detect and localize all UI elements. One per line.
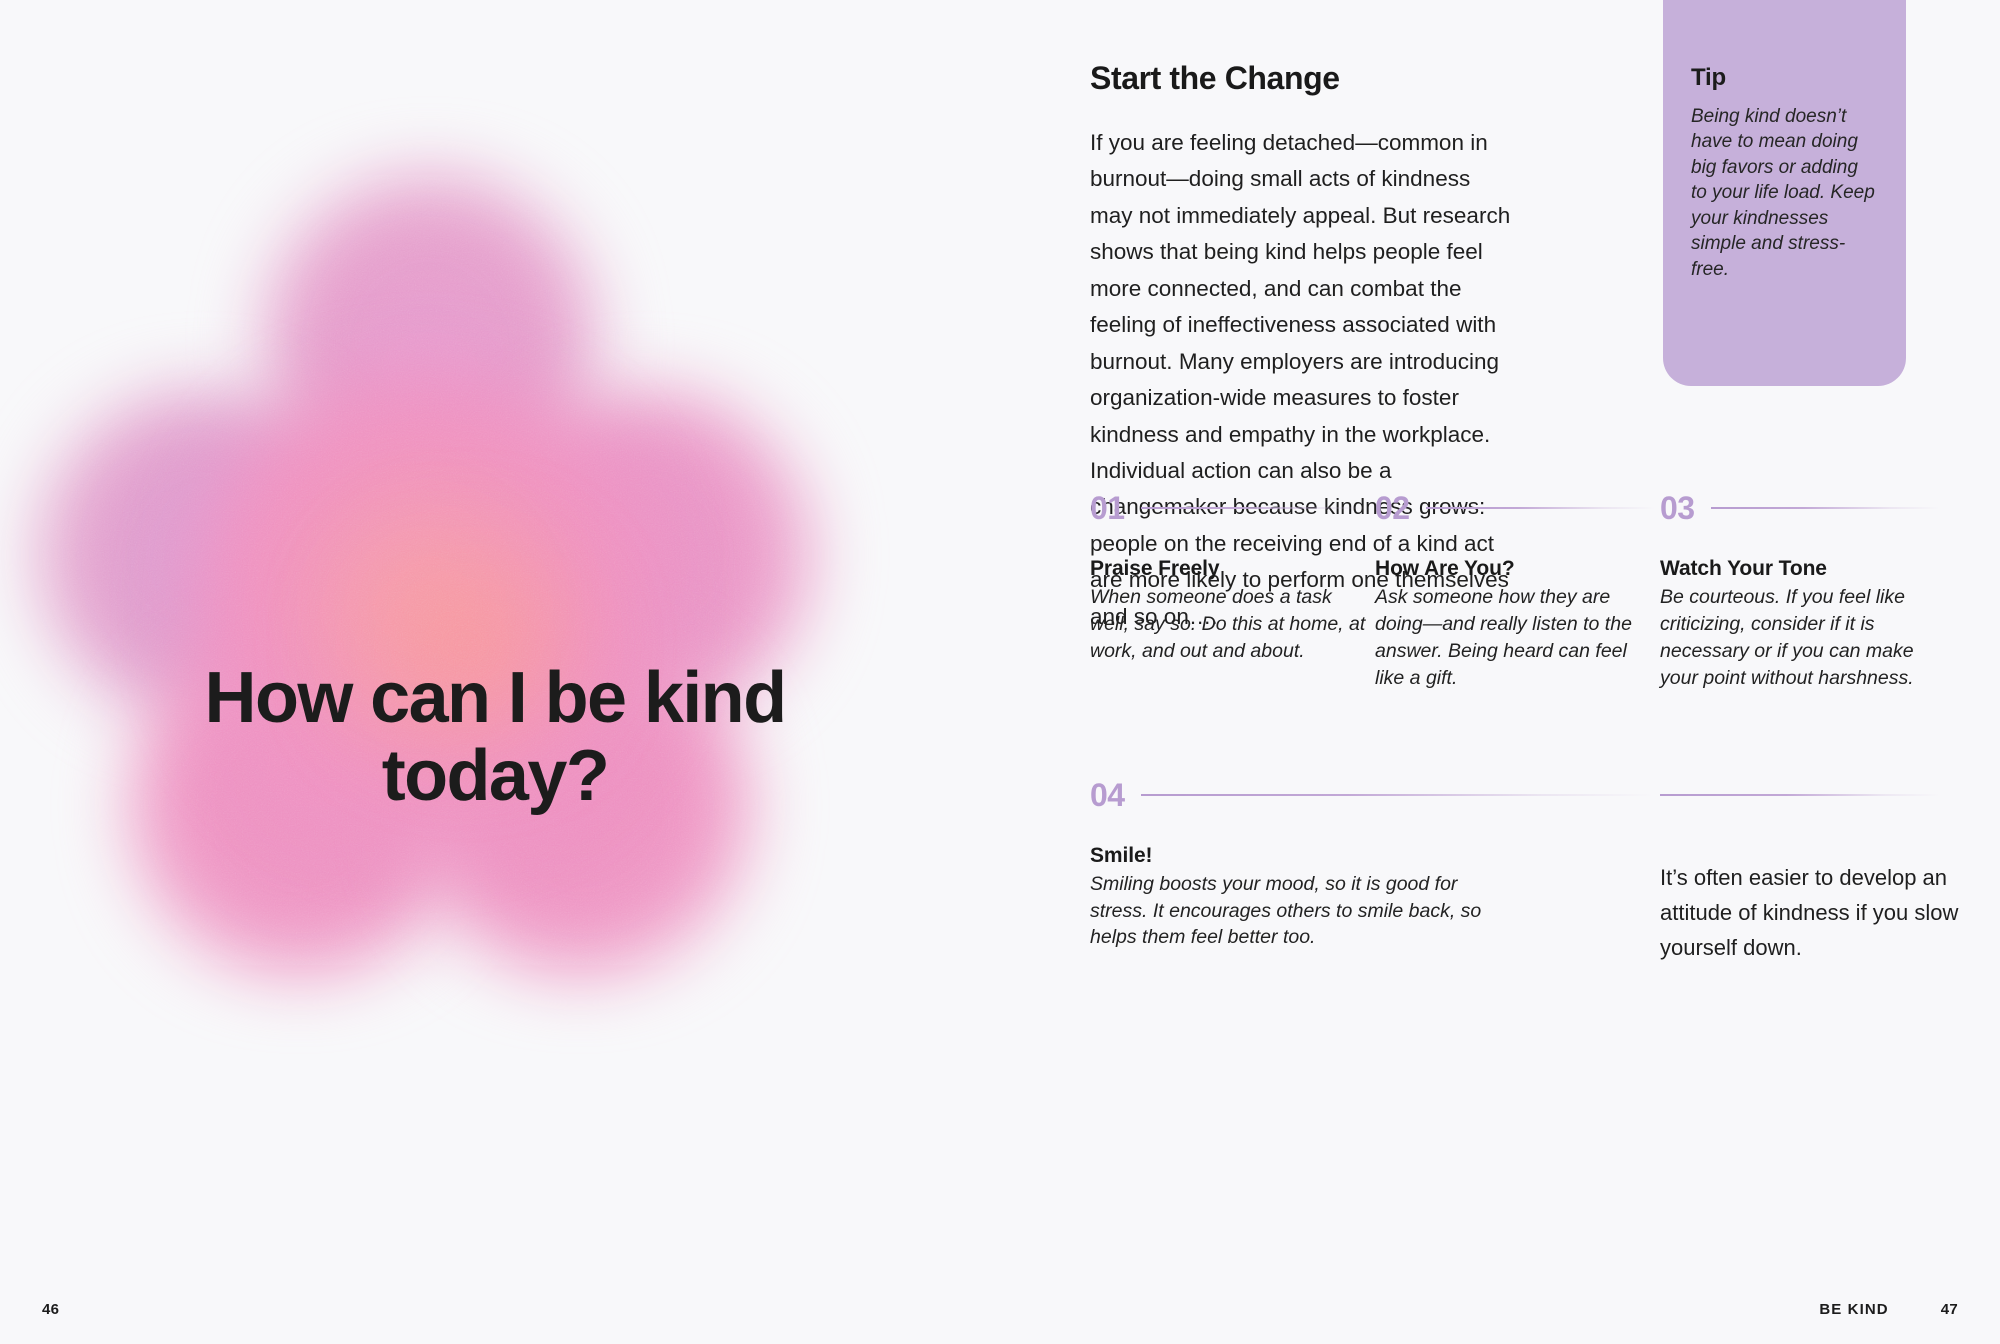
tip-number-header: 04 <box>1090 772 1655 818</box>
tip-rule <box>1711 507 1940 509</box>
folio-right: BE KIND 47 <box>1819 1301 1958 1318</box>
tip-number: 03 <box>1660 492 1695 524</box>
page-title: How can I be kind today? <box>175 660 815 816</box>
closing-block: It’s often easier to develop an attitude… <box>1660 772 1940 966</box>
tip-heading: Smile! <box>1090 844 1655 868</box>
closing-paragraph: It’s often easier to develop an attitude… <box>1660 860 1960 966</box>
tip-item-01: 01 Praise Freely When someone does a tas… <box>1090 485 1370 692</box>
right-page: Tip Being kind doesn’t have to mean doin… <box>1045 0 2000 1344</box>
flower-graphic <box>40 175 810 965</box>
tip-callout-title: Tip <box>1691 64 1878 92</box>
tip-item-02: 02 How Are You? Ask someone how they are… <box>1375 485 1655 692</box>
tip-rule <box>1141 507 1370 509</box>
tip-number-header: 01 <box>1090 485 1370 531</box>
section-title: Start the Change <box>1090 60 1340 97</box>
closing-rule-header <box>1660 772 1940 818</box>
tips-grid: 01 Praise Freely When someone does a tas… <box>1090 485 1980 965</box>
tips-row-top: 01 Praise Freely When someone does a tas… <box>1090 485 1980 692</box>
left-page: How can I be kind today? 46 <box>0 0 1045 1344</box>
tip-heading: Praise Freely <box>1090 557 1370 581</box>
tip-body: Smiling boosts your mood, so it is good … <box>1090 871 1510 952</box>
tip-number: 02 <box>1375 492 1410 524</box>
tip-number: 04 <box>1090 779 1125 811</box>
tip-item-04: 04 Smile! Smiling boosts your mood, so i… <box>1090 772 1655 966</box>
tip-body: Be courteous. If you feel like criticizi… <box>1660 584 1940 692</box>
tip-rule <box>1141 794 1655 796</box>
folio-left: 46 <box>42 1301 59 1318</box>
tip-item-03: 03 Watch Your Tone Be courteous. If you … <box>1660 485 1940 692</box>
tip-heading: Watch Your Tone <box>1660 557 1940 581</box>
book-spread: How can I be kind today? 46 Tip Being ki… <box>0 0 2000 1344</box>
tip-rule <box>1426 507 1655 509</box>
closing-rule <box>1660 794 1940 796</box>
tip-callout-body: Being kind doesn’t have to mean doing bi… <box>1691 104 1878 282</box>
tip-number-header: 02 <box>1375 485 1655 531</box>
running-head: BE KIND <box>1819 1301 1888 1318</box>
tips-row-bottom: 04 Smile! Smiling boosts your mood, so i… <box>1090 772 1980 966</box>
page-number: 47 <box>1941 1301 1958 1318</box>
tip-number: 01 <box>1090 492 1125 524</box>
tip-body: When someone does a task well, say so. D… <box>1090 584 1370 665</box>
tip-body: Ask someone how they are doing—and reall… <box>1375 584 1655 692</box>
tip-callout: Tip Being kind doesn’t have to mean doin… <box>1663 0 1906 386</box>
tip-number-header: 03 <box>1660 485 1940 531</box>
tip-heading: How Are You? <box>1375 557 1655 581</box>
